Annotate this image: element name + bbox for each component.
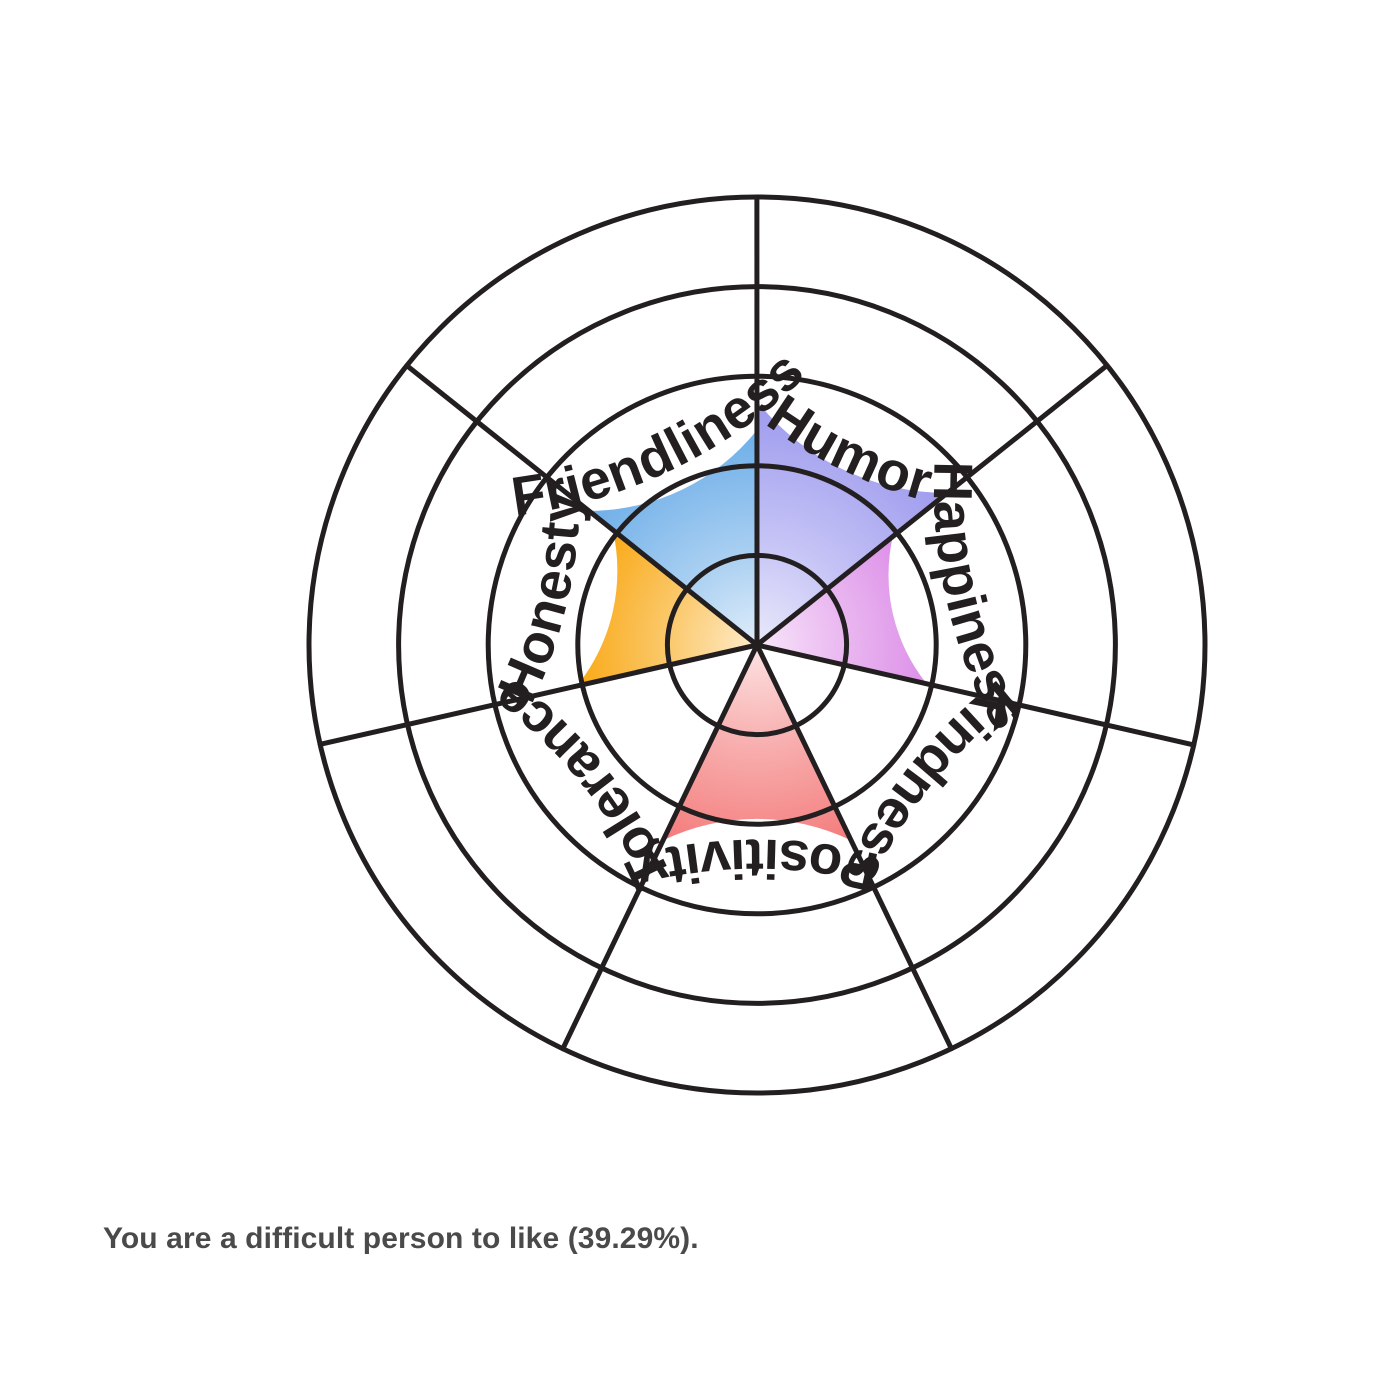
spoke-layer [320,197,1194,1049]
result-caption: You are a difficult person to like (39.2… [103,1222,699,1256]
axis-label-tolerance: Tolerance [481,667,683,899]
radar-chart-container: HumorHappinessKindnessPositivityToleranc… [0,0,1378,1378]
polar-area-chart: HumorHappinessKindnessPositivityToleranc… [0,0,1378,1378]
